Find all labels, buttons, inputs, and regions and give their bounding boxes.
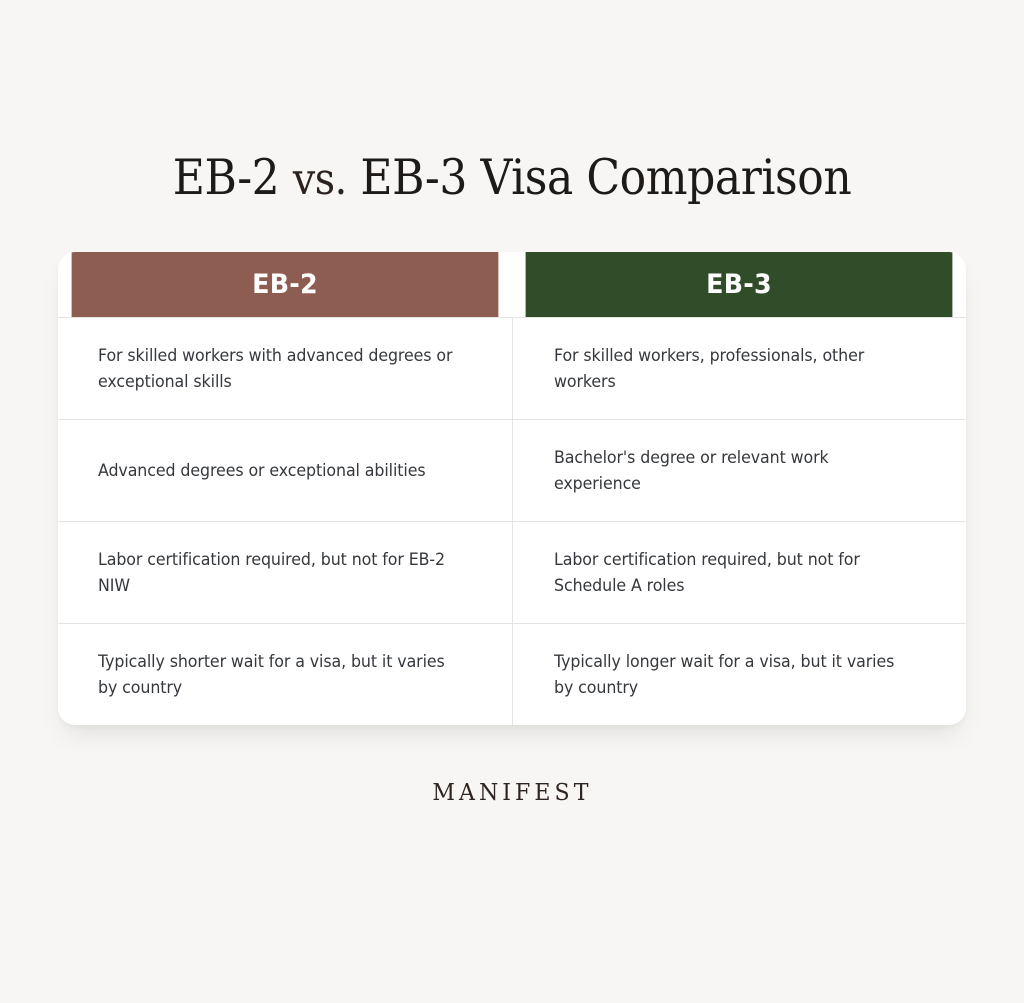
comparison-table-card: EB-2 EB-3 For skilled workers with advan…	[58, 252, 966, 725]
table-cell-text: Labor certification required, but not fo…	[98, 547, 457, 599]
page-title-vs: vs.	[293, 154, 347, 205]
page-title: EB-2 vs. EB-3 Visa Comparison	[51, 148, 973, 210]
table-header-eb3: EB-3	[526, 252, 953, 317]
table-cell-eb2: For skilled workers with advanced degree…	[58, 318, 512, 419]
table-row: Labor certification required, but not fo…	[58, 521, 966, 623]
table-cell-eb3: For skilled workers, professionals, othe…	[512, 318, 966, 419]
table-cell-text: For skilled workers with advanced degree…	[98, 343, 457, 395]
page-title-part-two: EB-3 Visa Comparison	[347, 149, 851, 206]
table-cell-text: Typically longer wait for a visa, but it…	[554, 649, 911, 701]
table-cell-text: Typically shorter wait for a visa, but i…	[98, 649, 457, 701]
page-root: EB-2 vs. EB-3 Visa Comparison EB-2 EB-3 …	[0, 0, 1024, 1003]
table-header-row: EB-2 EB-3	[58, 252, 966, 317]
table-cell-text: For skilled workers, professionals, othe…	[554, 343, 911, 395]
table-cell-eb3: Labor certification required, but not fo…	[512, 522, 966, 623]
table-row: For skilled workers with advanced degree…	[58, 317, 966, 419]
table-row: Typically shorter wait for a visa, but i…	[58, 623, 966, 725]
page-title-part-one: EB-2	[173, 149, 293, 206]
table-cell-text: Labor certification required, but not fo…	[554, 547, 911, 599]
footer: MANIFEST	[0, 780, 1024, 806]
table-cell-eb2: Typically shorter wait for a visa, but i…	[58, 624, 512, 725]
table-cell-eb2: Labor certification required, but not fo…	[58, 522, 512, 623]
table-cell-eb2: Advanced degrees or exceptional abilitie…	[58, 420, 512, 521]
table-header-eb3-label: EB-3	[706, 269, 772, 300]
page-title-container: EB-2 vs. EB-3 Visa Comparison	[0, 148, 1024, 210]
table-cell-text: Advanced degrees or exceptional abilitie…	[98, 458, 426, 484]
manifest-wordmark: MANIFEST	[432, 780, 592, 806]
table-header-eb2-label: EB-2	[252, 269, 318, 300]
table-cell-eb3: Bachelor's degree or relevant work exper…	[512, 420, 966, 521]
table-header-eb2: EB-2	[72, 252, 499, 317]
table-row: Advanced degrees or exceptional abilitie…	[58, 419, 966, 521]
table-cell-text: Bachelor's degree or relevant work exper…	[554, 445, 911, 497]
table-cell-eb3: Typically longer wait for a visa, but it…	[512, 624, 966, 725]
